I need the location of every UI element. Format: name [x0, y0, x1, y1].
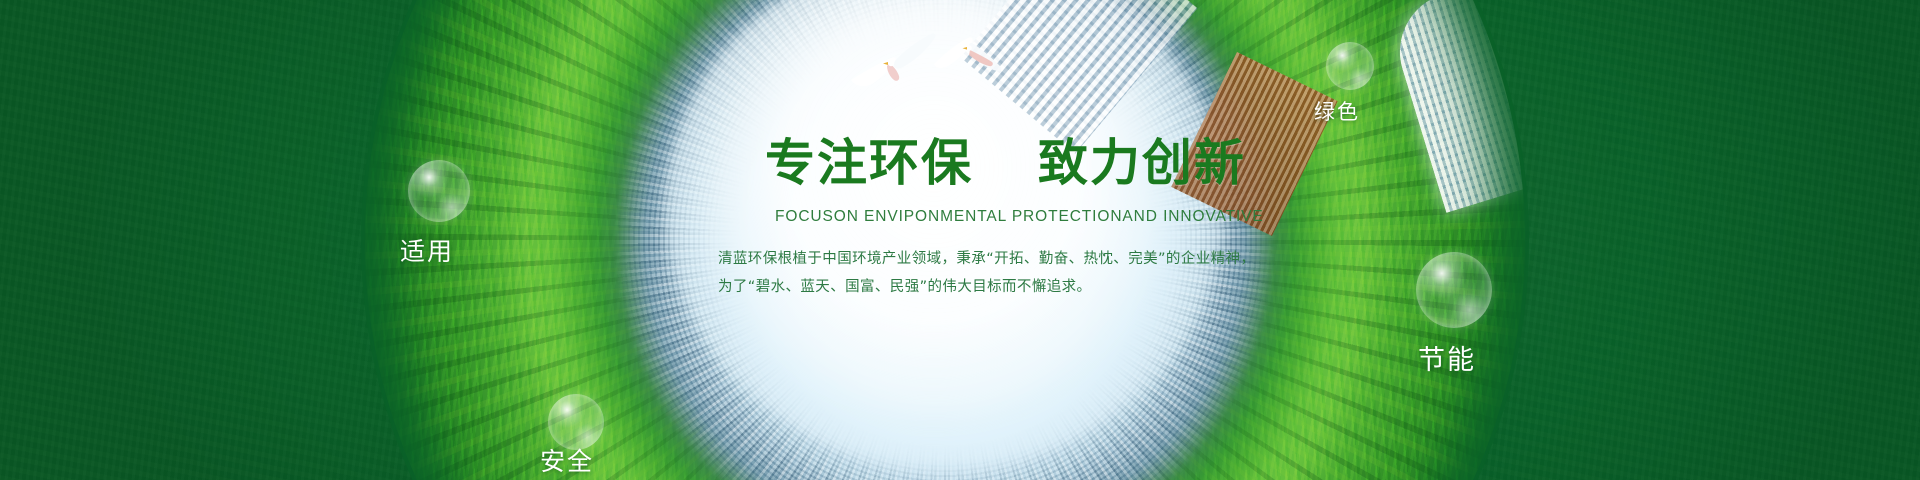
- bubble-label-shiyong: 适用: [400, 232, 454, 268]
- headline-part1: 专注环保: [765, 134, 973, 192]
- intro-paragraph-line2: 为了“碧水、蓝天、国富、民强”的伟大目标而不懈追求。: [718, 273, 1255, 301]
- bubble-label-lvse: 绿色: [1314, 96, 1360, 126]
- seagull-right-icon: [930, 28, 1008, 90]
- headline-part2: 致力创新: [1038, 134, 1246, 192]
- intro-paragraph: 清蓝环保根植于中国环境产业领域，秉承“开拓、勤奋、热忱、完美”的企业精神， 为了…: [718, 245, 1255, 301]
- seagull-left-icon: [845, 30, 941, 102]
- hero-banner: 适用 安全 绿色 节能 专注环保 致力创新 FOCUSON ENVIPONMEN…: [0, 0, 1920, 480]
- bubble-icon: [1326, 42, 1374, 90]
- page-title: 专注环保 致力创新: [765, 123, 1246, 195]
- bubble-label-jieneng: 节能: [1418, 338, 1476, 377]
- intro-paragraph-line1: 清蓝环保根植于中国环境产业领域，秉承“开拓、勤奋、热忱、完美”的企业精神，: [718, 245, 1255, 273]
- page-subtitle: FOCUSON ENVIPONMENTAL PROTECTIONAND INNO…: [775, 208, 1264, 226]
- bubble-label-anquan: 安全: [540, 442, 594, 478]
- bubble-icon: [1416, 252, 1492, 328]
- bubble-icon: [408, 160, 470, 222]
